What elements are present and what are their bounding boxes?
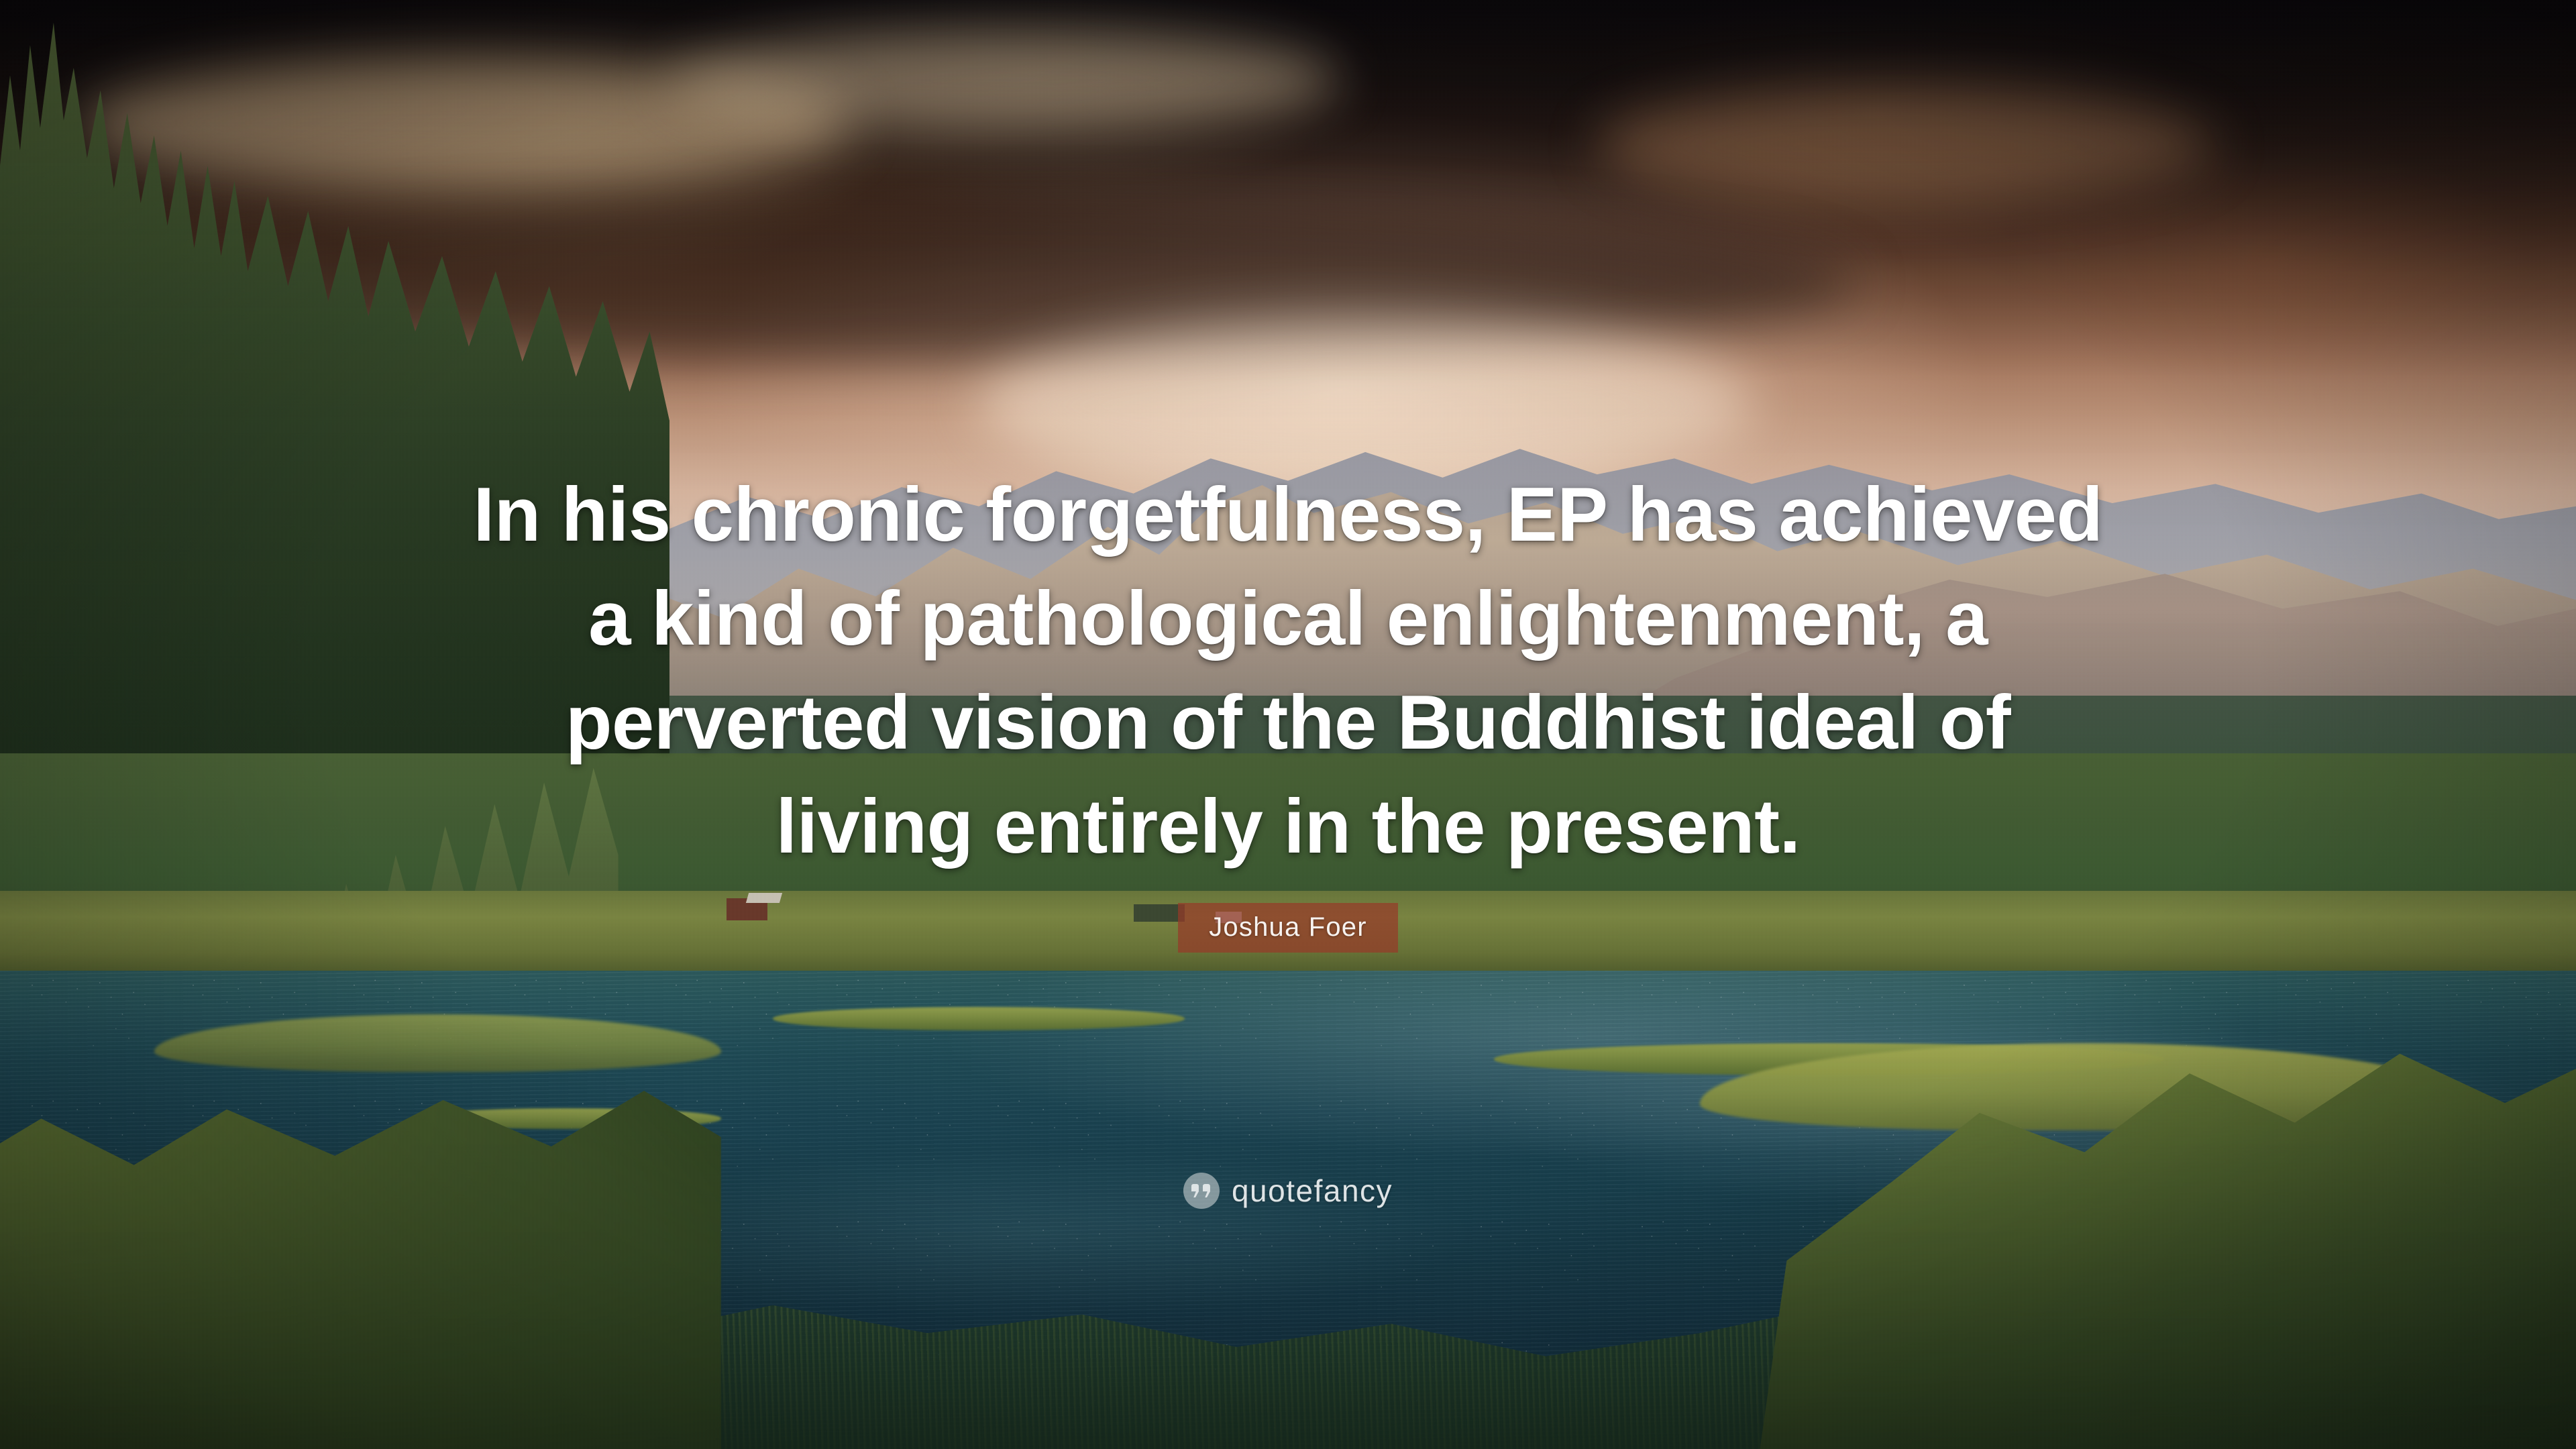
quote-line-3: perverted vision of the Buddhist ideal o… bbox=[449, 671, 2127, 775]
author-attribution: Joshua Foer bbox=[1178, 903, 1398, 953]
quote-line-2: a kind of pathological enlightenment, a bbox=[449, 567, 2127, 671]
quote-poster: In his chronic forgetfulness, EP has ach… bbox=[0, 0, 2576, 1449]
double-quote-icon bbox=[1183, 1173, 1220, 1209]
watermark-brand-label: quotefancy bbox=[1232, 1173, 1393, 1209]
quote-line-4: living entirely in the present. bbox=[449, 775, 2127, 879]
quote-text-block: In his chronic forgetfulness, EP has ach… bbox=[449, 463, 2127, 879]
quote-line-1: In his chronic forgetfulness, EP has ach… bbox=[449, 463, 2127, 567]
quotefancy-watermark[interactable]: quotefancy bbox=[1183, 1173, 1393, 1209]
double-quote-glyph bbox=[1191, 1184, 1212, 1197]
overlay-content: In his chronic forgetfulness, EP has ach… bbox=[0, 0, 2576, 1449]
author-name-badge: Joshua Foer bbox=[1178, 903, 1398, 953]
